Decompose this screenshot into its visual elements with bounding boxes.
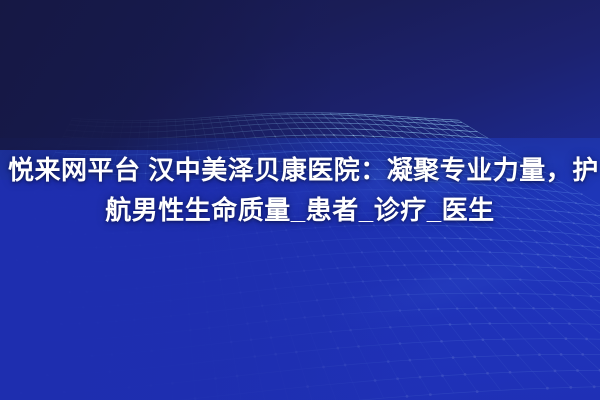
mesh-glow-ridge-lower bbox=[327, 210, 600, 346]
banner-title: 悦来网平台 汉中美泽贝康医院：凝聚专业力量，护 航男性生命质量_患者_诊疗_医生 bbox=[0, 150, 600, 230]
banner-title-line-1: 悦来网平台 汉中美泽贝康医院：凝聚专业力量，护 bbox=[8, 150, 592, 190]
banner-title-line-2: 航男性生命质量_患者_诊疗_医生 bbox=[8, 190, 592, 230]
top-left-vignette bbox=[0, 0, 330, 150]
article-banner: 悦来网平台 汉中美泽贝康医院：凝聚专业力量，护 航男性生命质量_患者_诊疗_医生 bbox=[0, 0, 600, 400]
